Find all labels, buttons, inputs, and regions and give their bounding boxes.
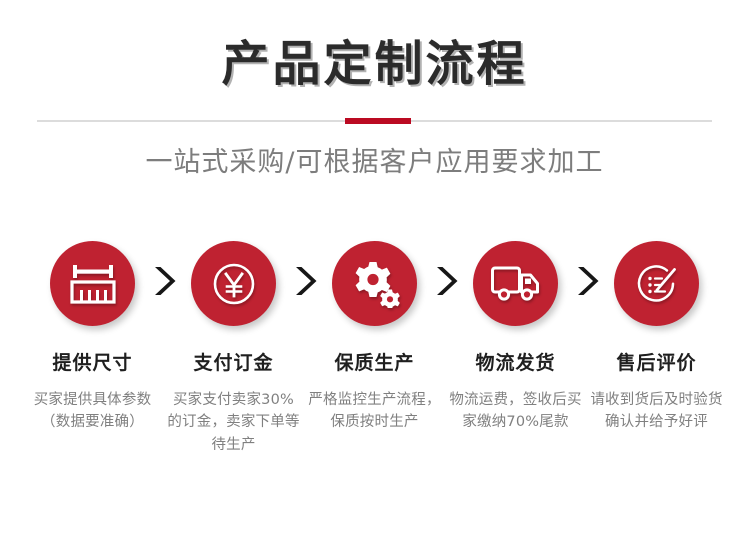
process-step-2: 支付订金 买家支付卖家30%的订金，卖家下单等待生产 bbox=[163, 237, 304, 456]
page-subtitle: 一站式采购/可根据客户应用要求加工 bbox=[0, 140, 749, 179]
step-2-title: 支付订金 bbox=[163, 348, 304, 375]
step-2-icon-circle bbox=[191, 241, 276, 326]
step-4-icon-circle bbox=[473, 241, 558, 326]
step-2-description: 买家支付卖家30%的订金，卖家下单等待生产 bbox=[163, 389, 304, 456]
delivery-truck-icon bbox=[490, 264, 542, 304]
process-step-1: 提供尺寸 买家提供具体参数（数据要准确） bbox=[22, 237, 163, 434]
step-1-title: 提供尺寸 bbox=[22, 348, 163, 375]
process-step-5: 售后评价 请收到货后及时验货确认并给予好评 bbox=[586, 237, 727, 434]
page-title: 产品定制流程 bbox=[0, 0, 749, 95]
step-5-icon-circle bbox=[614, 241, 699, 326]
process-step-4: 物流发货 物流运费，签收后买家缴纳70%尾款 bbox=[445, 237, 586, 434]
step-5-description: 请收到货后及时验货确认并给予好评 bbox=[586, 389, 727, 434]
process-steps: 提供尺寸 买家提供具体参数（数据要准确） bbox=[0, 237, 749, 456]
checklist-circle-icon bbox=[633, 260, 681, 308]
step-3-description: 严格监控生产流程，保质按时生产 bbox=[304, 389, 445, 434]
product-customization-flow-banner: 产品定制流程 一站式采购/可根据客户应用要求加工 bbox=[0, 0, 749, 537]
step-3-icon-circle bbox=[332, 241, 417, 326]
step-1-icon-circle bbox=[50, 241, 135, 326]
step-4-description: 物流运费，签收后买家缴纳70%尾款 bbox=[445, 389, 586, 434]
step-4-title: 物流发货 bbox=[445, 348, 586, 375]
step-3-title: 保质生产 bbox=[304, 348, 445, 375]
step-5-title: 售后评价 bbox=[586, 348, 727, 375]
process-step-3: 保质生产 严格监控生产流程，保质按时生产 bbox=[304, 237, 445, 434]
divider-accent bbox=[345, 118, 411, 124]
yuan-currency-circle-icon bbox=[211, 261, 257, 307]
ruler-icon bbox=[69, 263, 117, 305]
step-1-description: 买家提供具体参数（数据要准确） bbox=[22, 389, 163, 434]
title-divider bbox=[0, 118, 749, 124]
header: 产品定制流程 bbox=[0, 0, 749, 95]
gears-icon bbox=[350, 260, 400, 308]
